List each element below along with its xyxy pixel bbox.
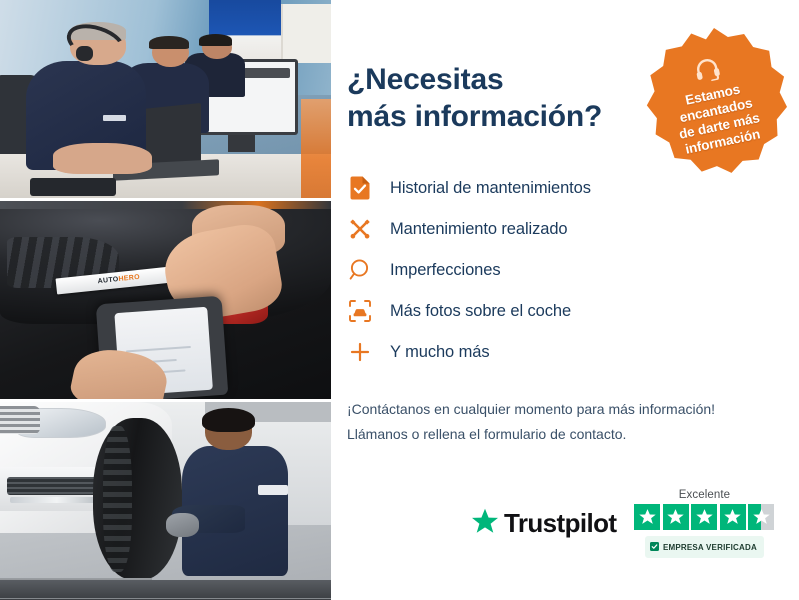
orange-equipment [301, 99, 331, 198]
contact-badge: Estamos encantados de darte más informac… [641, 28, 787, 174]
badge-content: Estamos encantados de darte más informac… [627, 14, 799, 187]
photo-vehicle-inspection-with-ruler-and-tablet: AUTOHERO [0, 201, 331, 399]
mechanic-uniform-logo [258, 485, 288, 495]
feature-item-historial: Historial de mantenimientos [347, 175, 771, 201]
agent-one-uniform-logo [103, 115, 126, 121]
feature-label: Y mucho más [390, 343, 489, 362]
plus-icon [347, 339, 373, 365]
feature-item-mantenimiento: Mantenimiento realizado [347, 216, 771, 242]
content-panel: ¿Necesitas más información? Estamos enca… [331, 0, 799, 600]
page-title: ¿Necesitas más información? [347, 62, 647, 135]
contact-line-2: Llámanos o rellena el formulario de cont… [347, 422, 767, 447]
rating-star-filled [720, 504, 746, 530]
wheel-tread [103, 426, 133, 573]
contact-line-1: ¡Contáctanos en cualquier momento para m… [347, 397, 767, 422]
feature-item-mas-fotos: Más fotos sobre el coche [347, 298, 771, 324]
agent-one-arm [53, 143, 152, 175]
crossed-tools-icon [347, 216, 373, 242]
verified-label: EMPRESA VERIFICADA [663, 543, 757, 552]
agent-two-hair [149, 36, 189, 50]
feature-label: Historial de mantenimientos [390, 179, 591, 198]
bumper-vent [7, 477, 106, 495]
contact-copy: ¡Contáctanos en cualquier momento para m… [347, 397, 767, 446]
magnifier-icon [347, 257, 373, 283]
cabinet-edge [0, 598, 331, 599]
feature-label: Más fotos sobre el coche [390, 302, 571, 321]
trustpilot-widget[interactable]: Trustpilot Excelente [471, 489, 774, 558]
rating-stars [634, 504, 774, 530]
feature-label: Imperfecciones [390, 261, 500, 280]
verified-badge: EMPRESA VERIFICADA [645, 536, 764, 558]
headline-line-1: ¿Necesitas [347, 63, 503, 96]
ruler-brand-part1: AUTO [98, 277, 120, 286]
wall-board [281, 4, 331, 63]
photo-call-center-agents-with-headsets [0, 0, 331, 198]
agent-one-earcup [76, 46, 93, 62]
trustpilot-rating: Excelente [634, 489, 774, 558]
ruler-brand-part2: HERO [119, 274, 141, 283]
feature-list: Historial de mantenimientos M [347, 175, 771, 365]
tablet-screen-line [126, 346, 191, 353]
photo-column: AUTOHERO [0, 0, 331, 600]
rating-star-filled [691, 504, 717, 530]
rating-star-filled [663, 504, 689, 530]
mechanic-glove [166, 513, 199, 537]
rating-star-filled [634, 504, 660, 530]
monitor-stand [228, 135, 254, 153]
headline-line-2: más información? [347, 99, 647, 136]
ruler-brand-text: AUTOHERO [98, 274, 141, 285]
trustpilot-star-icon [471, 508, 499, 540]
car-grille [0, 406, 40, 434]
promo-card: AUTOHERO [0, 0, 799, 600]
feature-label: Mantenimiento realizado [390, 220, 567, 239]
photo-mechanic-inspecting-wheel [0, 402, 331, 600]
document-check-icon [347, 175, 373, 201]
trustpilot-logo: Trustpilot [471, 508, 616, 540]
chrome-trim [10, 497, 103, 503]
trustpilot-wordmark: Trustpilot [504, 508, 616, 539]
desk-tablet [30, 178, 116, 196]
agent-three-hair [199, 34, 232, 46]
tool-cabinet [0, 580, 331, 600]
rating-label: Excelente [679, 489, 730, 501]
headset-icon [692, 55, 723, 89]
feature-item-imperfecciones: Imperfecciones [347, 257, 771, 283]
car-viewfinder-icon [347, 298, 373, 324]
mechanic-hair [202, 408, 255, 432]
verified-check-icon [650, 538, 659, 556]
badge-text: Estamos encantados de darte más informac… [671, 79, 765, 158]
rating-star-half [748, 504, 774, 530]
feature-item-mucho-mas: Y mucho más [347, 339, 771, 365]
